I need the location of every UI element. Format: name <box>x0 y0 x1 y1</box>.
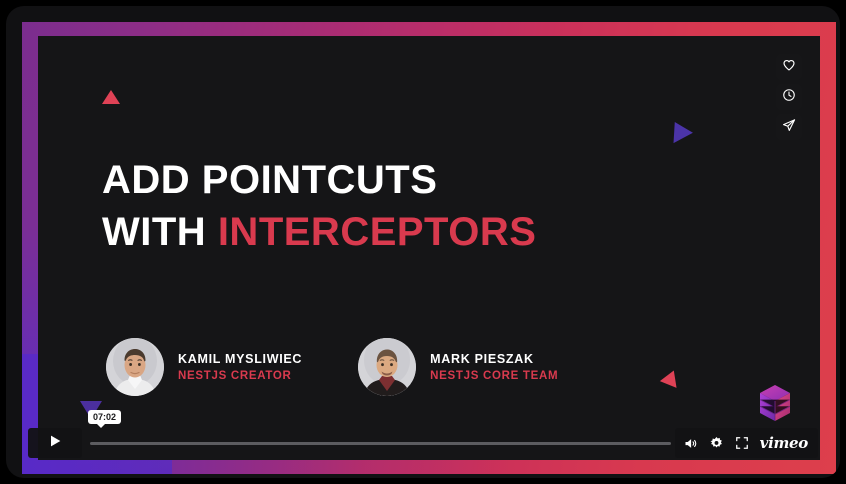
player-control-bar: 07:02 vimeo <box>28 428 818 458</box>
action-button-group <box>776 54 802 140</box>
decorative-triangle-red-top <box>102 90 120 104</box>
decorative-triangle-purple-right <box>665 117 693 143</box>
nestjs-cube-logo <box>758 384 792 422</box>
right-controls-group: vimeo <box>675 428 818 458</box>
like-button[interactable] <box>776 54 802 80</box>
speaker-item: MARK PIESZAK NESTJS CORE TEAM <box>358 338 558 396</box>
speaker-info: KAMIL MYSLIWIEC NESTJS CREATOR <box>178 350 302 385</box>
title-line-2-accent: INTERCEPTORS <box>218 210 537 254</box>
speaker-role: NESTJS CORE TEAM <box>430 368 558 385</box>
fullscreen-button[interactable] <box>735 436 749 450</box>
title-line-1: ADD POINTCUTS <box>102 154 536 206</box>
speaker-role: NESTJS CREATOR <box>178 368 302 385</box>
share-button[interactable] <box>776 114 802 140</box>
play-button[interactable] <box>28 428 82 458</box>
video-stage[interactable]: ADD POINTCUTS WITH INTERCEPTORS <box>38 36 820 460</box>
video-player-frame: ADD POINTCUTS WITH INTERCEPTORS <box>6 6 840 478</box>
speaker-item: KAMIL MYSLIWIEC NESTJS CREATOR <box>106 338 302 396</box>
slide-title: ADD POINTCUTS WITH INTERCEPTORS <box>102 154 536 258</box>
watch-later-button[interactable] <box>776 84 802 110</box>
paper-plane-icon <box>782 118 796 137</box>
title-line-2: WITH INTERCEPTORS <box>102 206 536 258</box>
time-tooltip: 07:02 <box>88 410 121 424</box>
avatar-kamil-mysliwiec <box>106 338 164 396</box>
title-line-2-plain: WITH <box>102 210 218 254</box>
progress-scrubber[interactable]: 07:02 <box>90 428 671 458</box>
speaker-name: MARK PIESZAK <box>430 350 558 368</box>
speaker-list: KAMIL MYSLIWIEC NESTJS CREATOR <box>106 338 558 396</box>
clock-icon <box>782 88 796 107</box>
decorative-triangle-red-bottom-right <box>660 367 682 388</box>
settings-button[interactable] <box>709 436 724 451</box>
play-icon <box>47 433 63 454</box>
speaker-info: MARK PIESZAK NESTJS CORE TEAM <box>430 350 558 385</box>
volume-button[interactable] <box>683 436 698 451</box>
vimeo-logo[interactable]: vimeo <box>760 434 808 452</box>
speaker-name: KAMIL MYSLIWIEC <box>178 350 302 368</box>
avatar-mark-pieszak <box>358 338 416 396</box>
heart-icon <box>782 58 796 77</box>
progress-track[interactable] <box>90 442 671 445</box>
